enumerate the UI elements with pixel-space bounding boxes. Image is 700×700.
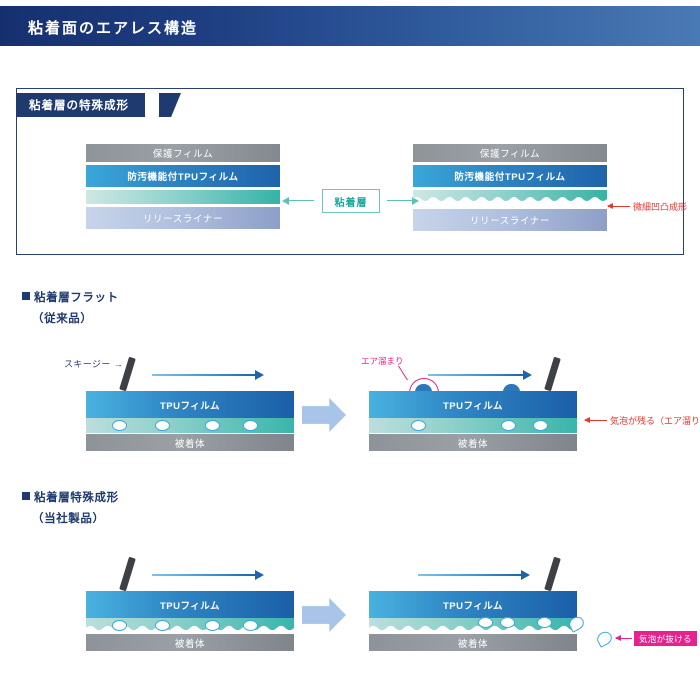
air-bubble-icon — [537, 617, 552, 628]
panel-flat-before: TPUフィルム 被着体 — [86, 391, 294, 449]
layer-protective-film: 保護フィルム — [413, 144, 607, 162]
arrow-to-left-stack-icon — [288, 200, 314, 201]
layer-release-liner: リリースライナー — [413, 209, 607, 231]
card-tab: 粘着層の特殊成形 — [16, 93, 145, 117]
air-bubble-icon — [478, 617, 493, 628]
layer-tpu-film: 防汚機能付TPUフィルム — [86, 165, 280, 187]
panel-special-after: TPUフィルム 被着体 — [369, 591, 577, 649]
layer-protective-film: 保護フィルム — [86, 144, 280, 162]
section-heading-flat: 粘着層フラット — [22, 289, 119, 305]
panel-flat-after: TPUフィルム 被着体 — [369, 391, 577, 449]
section-heading-special: 粘着層特殊成形 — [22, 489, 119, 505]
section-subheading-flat: （従来品） — [32, 310, 93, 326]
page-title: 粘着面のエアレス構造 — [28, 17, 198, 38]
bubbles-escape-annotation: 気泡が抜ける — [634, 631, 697, 646]
panel-tpu-film: TPUフィルム — [369, 391, 577, 418]
air-bubble-icon — [500, 617, 515, 628]
motion-arrow-icon — [428, 374, 524, 376]
layer-release-liner: リリースライナー — [86, 207, 280, 229]
red-arrow-icon — [608, 206, 630, 207]
air-pocket-leader-line — [398, 365, 408, 380]
layer-stack-flat: 保護フィルム 防汚機能付TPUフィルム リリースライナー — [86, 144, 280, 229]
squeegee-caption: スキージー → — [64, 357, 123, 370]
layer-tpu-film: 防汚機能付TPUフィルム — [413, 165, 607, 187]
pink-arrow-icon — [616, 638, 632, 639]
section-subheading-special: （当社製品） — [32, 510, 105, 526]
adhesive-layer-label: 粘着層 — [322, 189, 380, 213]
right-block-arrow-icon — [302, 398, 346, 432]
squeegee-blade-icon — [119, 557, 136, 592]
layer-adhesive-flat — [86, 190, 280, 204]
escaping-bubble-icon — [595, 629, 614, 648]
panel-adherend: 被着体 — [86, 434, 294, 451]
air-bubble-icon — [411, 420, 426, 431]
squeegee-blade-icon — [544, 557, 561, 592]
layer-stack-textured: 保護フィルム 防汚機能付TPUフィルム リリースライナー — [413, 144, 607, 231]
section-heading-flat-text: 粘着層フラット — [34, 292, 119, 304]
air-bubble-icon — [155, 420, 170, 431]
panel-tpu-film: TPUフィルム — [86, 591, 294, 618]
air-bubble-icon — [205, 620, 220, 631]
bubbles-remain-annotation: 気泡が残る（エア溜り） — [585, 414, 700, 427]
motion-arrow-icon — [152, 574, 256, 576]
air-bubble-icon — [243, 620, 258, 631]
panel-adherend: 被着体 — [86, 634, 294, 651]
motion-arrow-icon — [418, 574, 522, 576]
panel-adherend: 被着体 — [369, 634, 577, 651]
motion-arrow-icon — [152, 374, 256, 376]
air-bubble-icon — [112, 620, 127, 631]
squeegee-blade-icon — [544, 357, 561, 392]
page-header-banner: 粘着面のエアレス構造 — [0, 6, 700, 46]
bullet-square-icon — [22, 492, 30, 500]
bullet-square-icon — [22, 292, 30, 300]
right-block-arrow-icon — [302, 598, 346, 632]
panel-tpu-film: TPUフィルム — [86, 391, 294, 418]
air-bubble-icon — [155, 620, 170, 631]
arrow-to-right-stack-icon — [387, 200, 413, 201]
bubbles-escape-annotation-text: 気泡が抜ける — [639, 633, 692, 645]
red-arrow-icon — [585, 420, 607, 421]
card-tab-label: 粘着層の特殊成形 — [29, 97, 129, 113]
fine-texture-annotation-text: 微細凹凸成形 — [633, 200, 687, 213]
air-bubble-icon — [112, 420, 127, 431]
adhesive-layer-label-text: 粘着層 — [335, 194, 368, 209]
panel-adherend: 被着体 — [369, 434, 577, 451]
section-heading-special-text: 粘着層特殊成形 — [34, 492, 119, 504]
layer-adhesive-textured — [413, 190, 607, 206]
air-bubble-icon — [243, 420, 258, 431]
panel-tpu-film: TPUフィルム — [369, 591, 577, 618]
bubbles-remain-annotation-text: 気泡が残る（エア溜り） — [610, 414, 700, 427]
fine-texture-annotation: 微細凹凸成形 — [608, 200, 687, 213]
air-bubble-icon — [533, 420, 548, 431]
air-bubble-icon — [205, 420, 220, 431]
air-bubble-icon — [501, 420, 516, 431]
panel-special-before: TPUフィルム 被着体 — [86, 591, 294, 649]
